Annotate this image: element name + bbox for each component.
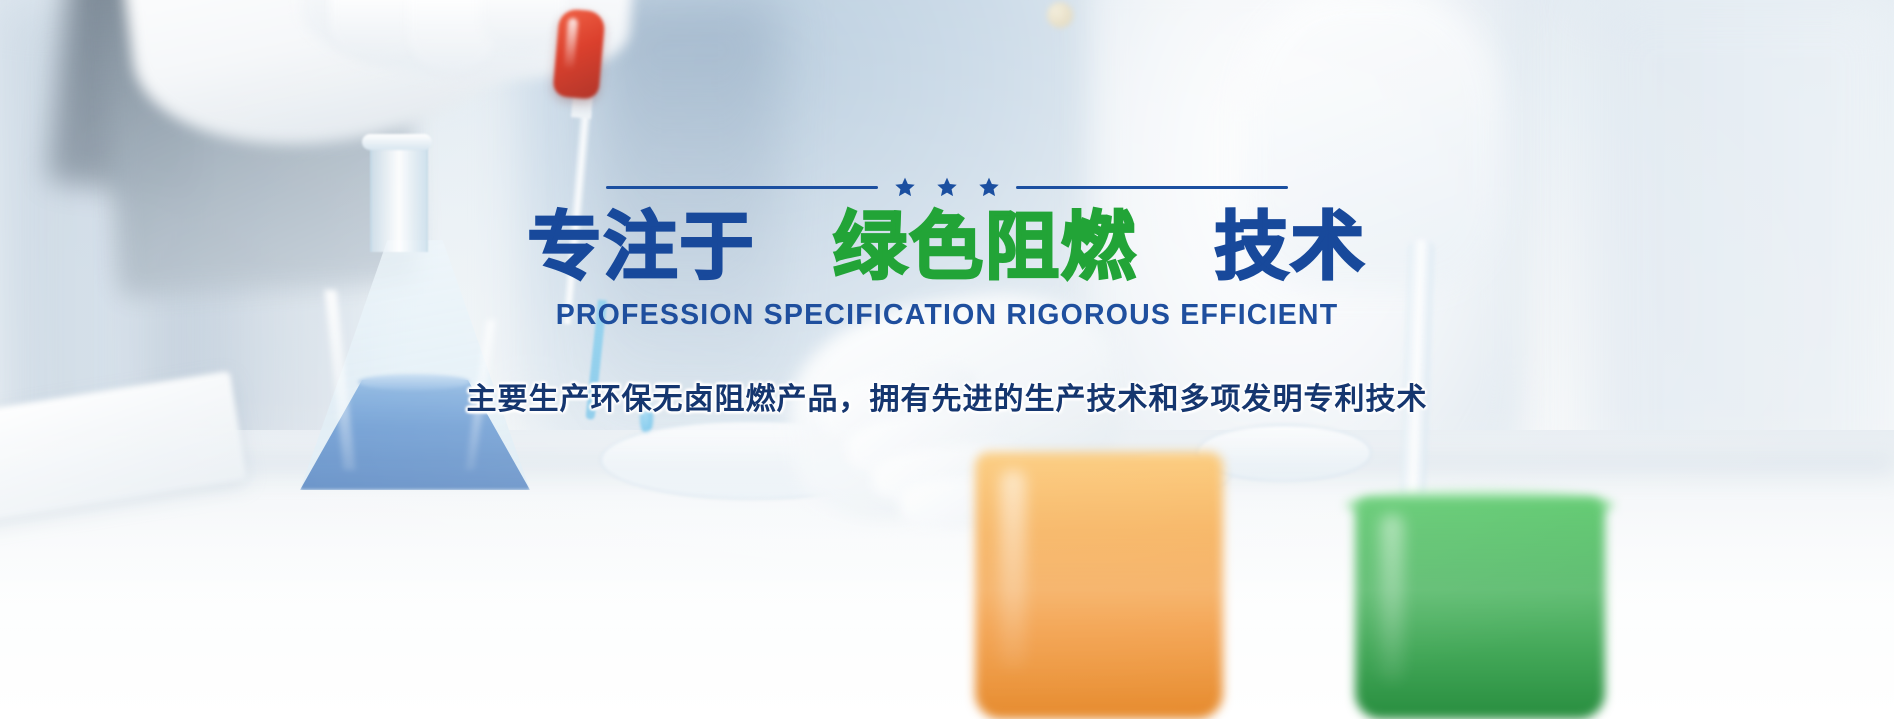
hero-banner: 专注于 绿色阻燃 技术 PROFESSION SPECIFICATION RIG… (0, 0, 1894, 719)
divider-line-right (1016, 186, 1288, 189)
subtitle-english: PROFESSION SPECIFICATION RIGOROUS EFFICI… (556, 299, 1339, 332)
star-icon (894, 176, 916, 198)
decorative-divider (606, 176, 1288, 198)
star-icon (978, 176, 1000, 198)
headline-part-highlight: 绿色阻燃 (833, 204, 1137, 290)
page-title: 专注于 绿色阻燃 技术 (527, 210, 1366, 285)
divider-line-left (606, 186, 878, 189)
tagline-chinese: 主要生产环保无卤阻燃产品，拥有先进的生产技术和多项发明专利技术 (467, 374, 1428, 418)
banner-content: 专注于 绿色阻燃 技术 PROFESSION SPECIFICATION RIG… (0, 0, 1894, 719)
headline-part-suffix: 技术 (1215, 204, 1367, 290)
star-icon (936, 176, 958, 198)
divider-stars (894, 176, 1000, 198)
headline-part-primary: 专注于 (527, 204, 755, 290)
